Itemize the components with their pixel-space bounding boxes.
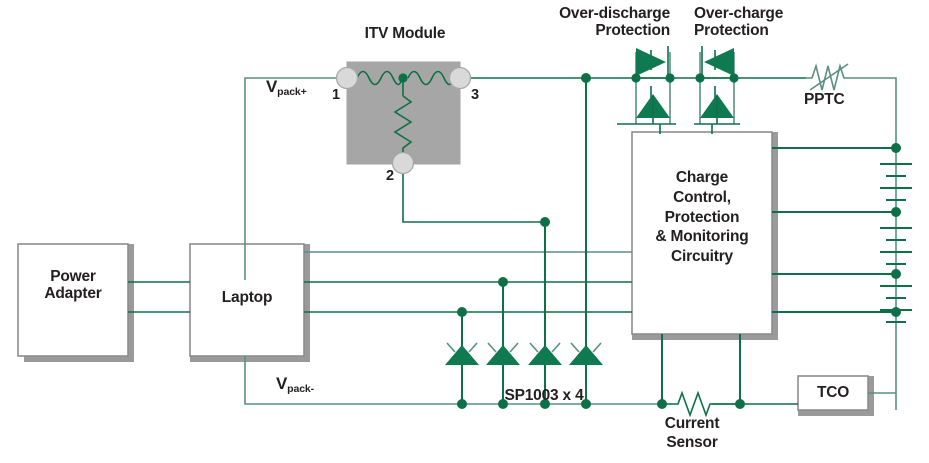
vpack-minus-label: Vpack- [276,375,314,393]
current-sensor-resistor [657,334,745,415]
sp1003-array [445,73,603,409]
itv-pin-2-number: 2 [386,169,394,185]
itv-pin-3 [450,68,471,89]
over-charge-mosfet [694,46,740,134]
itv-pin-3-number: 3 [471,88,479,104]
power-adapter-label: Power Adapter [18,269,128,302]
sp1003-label: SP1003 x 4 [460,388,628,405]
itv-pin-1 [337,68,358,89]
itv-module-heading: ITV Module [345,26,465,43]
sidactor-4 [569,345,603,365]
battery-cell-stack [880,143,912,410]
sidactor-2 [486,345,520,365]
vpack-plus-net [245,78,896,280]
charge-control-label: Charge Control, Protection & Monitoring … [634,168,770,267]
cell-balance-taps [772,148,896,312]
current-sensor-label: Current Sensor [640,415,744,452]
pptc-label: PPTC [804,92,845,109]
pptc-component [806,64,848,90]
over-discharge-mosfet [617,46,676,134]
itv-pin-2 [393,153,414,174]
sidactor-1 [445,345,479,365]
sidactor-3 [528,345,562,365]
over-discharge-heading: Over-discharge Protection [520,6,670,39]
vpack-plus-label: Vpack+ [266,78,307,96]
itv-center-node [398,73,407,82]
tco-label: TCO [798,385,868,402]
laptop-label: Laptop [190,290,304,307]
body-diode-2 [704,48,734,76]
itv-pin-1-number: 1 [332,88,340,104]
schematic-canvas: .w { stroke:#0d7048; stroke-width:2; fil… [0,0,929,463]
over-charge-heading: Over-charge Protection [694,6,824,39]
